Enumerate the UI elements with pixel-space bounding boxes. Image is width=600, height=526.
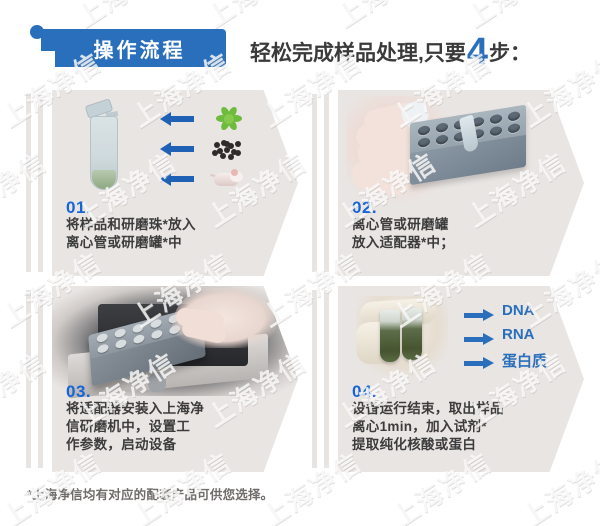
- output-row: RNA: [464, 328, 580, 348]
- sample-vial-icon: [380, 310, 400, 362]
- step-number: 04.: [352, 382, 377, 402]
- arrow-right-icon: [464, 357, 494, 369]
- steps-grid: 01. 将样品和研磨珠*放入 离心管或研磨罐*中: [0, 90, 600, 476]
- step-card-02: 02. 离心管或研磨罐 放入适配器*中；: [312, 90, 584, 276]
- card-stripe: [312, 94, 317, 272]
- header-ribbon-label: 操作流程: [41, 29, 226, 67]
- step-card-04: DNA RNA 蛋白质 04. 设备运行结束，取出样品 离心1min，加入试剂*…: [312, 286, 584, 472]
- step-card-body: DNA RNA 蛋白质 04. 设备运行结束，取出样品 离心1min，加入试剂*…: [338, 286, 584, 472]
- card-stripe: [324, 94, 329, 272]
- step-card-body: 03. 将适配器安装入上海净 信研磨机中，设置工 作参数，启动设备: [52, 286, 298, 472]
- card-stripe: [312, 290, 317, 468]
- tube-with-samples-photo: [52, 90, 298, 208]
- sample-input-row: [160, 138, 276, 160]
- output-label: RNA: [502, 326, 535, 343]
- arrow-left-icon: [160, 172, 194, 186]
- card-stripe: [38, 290, 43, 468]
- step-card-body: 02. 离心管或研磨罐 放入适配器*中；: [338, 90, 584, 276]
- page-title-prefix: 轻松完成样品处理,只要: [250, 37, 466, 67]
- card-stripe: [38, 94, 43, 272]
- page-title: 轻松完成样品处理,只要 4 步：: [250, 33, 531, 67]
- card-stripe: [26, 290, 31, 468]
- hand-loading-adapter-photo: [338, 90, 584, 208]
- footnote: *上海净信均有对应的配套产品可供您选择。: [27, 484, 273, 503]
- centrifuge-tube-icon: [84, 98, 122, 196]
- hand-icon: [172, 288, 276, 348]
- card-stripe: [26, 94, 31, 272]
- output-label: DNA: [502, 302, 535, 319]
- grinding-beads-sample-icon: [206, 134, 246, 164]
- step-card-03: 03. 将适配器安装入上海净 信研磨机中，设置工 作参数，启动设备: [26, 286, 298, 472]
- arrow-left-icon: [160, 142, 194, 156]
- step-number: 01.: [66, 198, 91, 218]
- step-description: 设备运行结束，取出样品 离心1min，加入试剂* 提取纯化核酸或蛋白: [352, 400, 504, 454]
- step-number: 02.: [352, 198, 377, 218]
- step-card-01: 01. 将样品和研磨珠*放入 离心管或研磨罐*中: [26, 90, 298, 276]
- page-title-number: 4: [467, 37, 488, 67]
- arrow-right-icon: [464, 309, 494, 321]
- step-description: 将样品和研磨珠*放入 离心管或研磨罐*中: [66, 216, 196, 252]
- card-stripe: [324, 290, 329, 468]
- infographic-page: 操作流程 轻松完成样品处理,只要 4 步：: [0, 0, 600, 526]
- output-row: 蛋白质: [464, 352, 580, 372]
- arrow-left-icon: [160, 112, 194, 126]
- step-number: 03.: [66, 382, 91, 402]
- header: 操作流程 轻松完成样品处理,只要 4 步：: [0, 0, 600, 88]
- step-description: 将适配器安装入上海净 信研磨机中，设置工 作参数，启动设备: [66, 400, 204, 454]
- arrow-right-icon: [464, 333, 494, 345]
- grinder-machine-icon: [52, 286, 298, 396]
- output-label: 蛋白质: [502, 350, 547, 371]
- sample-input-row: [160, 168, 276, 190]
- mouse-tissue-sample-icon: [206, 164, 246, 194]
- header-ribbon: 操作流程: [41, 29, 226, 67]
- sample-input-row: [160, 108, 276, 130]
- output-row: DNA: [464, 304, 580, 324]
- page-title-suffix: 步：: [489, 37, 531, 67]
- plant-leaf-sample-icon: [206, 104, 246, 134]
- step-description: 离心管或研磨罐 放入适配器*中；: [352, 216, 454, 252]
- sample-vial-icon: [402, 308, 422, 360]
- step-card-body: 01. 将样品和研磨珠*放入 离心管或研磨罐*中: [52, 90, 298, 276]
